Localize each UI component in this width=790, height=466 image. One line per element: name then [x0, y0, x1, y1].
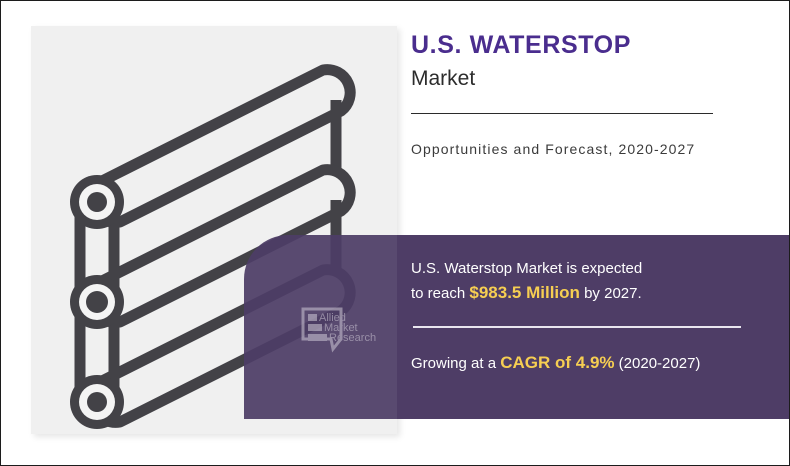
- cagr-prefix: Growing at a: [411, 355, 500, 372]
- waterstop-node-2: [70, 275, 124, 329]
- cagr-highlight: CAGR of 4.9%: [500, 353, 614, 372]
- stat-line-2: to reach $983.5 Million by 2027.: [411, 280, 761, 306]
- stat-line-2-prefix: to reach: [411, 285, 469, 302]
- waterstop-node-1: [70, 175, 124, 229]
- market-value-highlight: $983.5 Million: [469, 283, 580, 302]
- cagr-line: Growing at a CAGR of 4.9% (2020-2027): [411, 353, 700, 373]
- cagr-suffix: (2020-2027): [615, 355, 701, 372]
- stat-line-1: U.S. Waterstop Market is expected: [411, 257, 761, 280]
- header-divider: [411, 113, 713, 114]
- watermark-line-3: Research: [329, 332, 376, 344]
- infographic-root: Allied Market Research U.S. WATERSTOP Ma…: [0, 0, 790, 466]
- stat-divider: [413, 326, 741, 328]
- forecast-subtitle: Opportunities and Forecast, 2020-2027: [411, 141, 695, 157]
- page-title: U.S. WATERSTOP: [411, 31, 771, 60]
- stat-line-2-suffix: by 2027.: [580, 285, 642, 302]
- page-subtitle: Market: [411, 66, 771, 91]
- allied-market-research-logo-icon: Allied Market Research: [301, 307, 377, 359]
- waterstop-node-3: [70, 375, 124, 429]
- stat-text-block: U.S. Waterstop Market is expected to rea…: [411, 257, 761, 307]
- header-text-panel: U.S. WATERSTOP Market: [411, 31, 771, 91]
